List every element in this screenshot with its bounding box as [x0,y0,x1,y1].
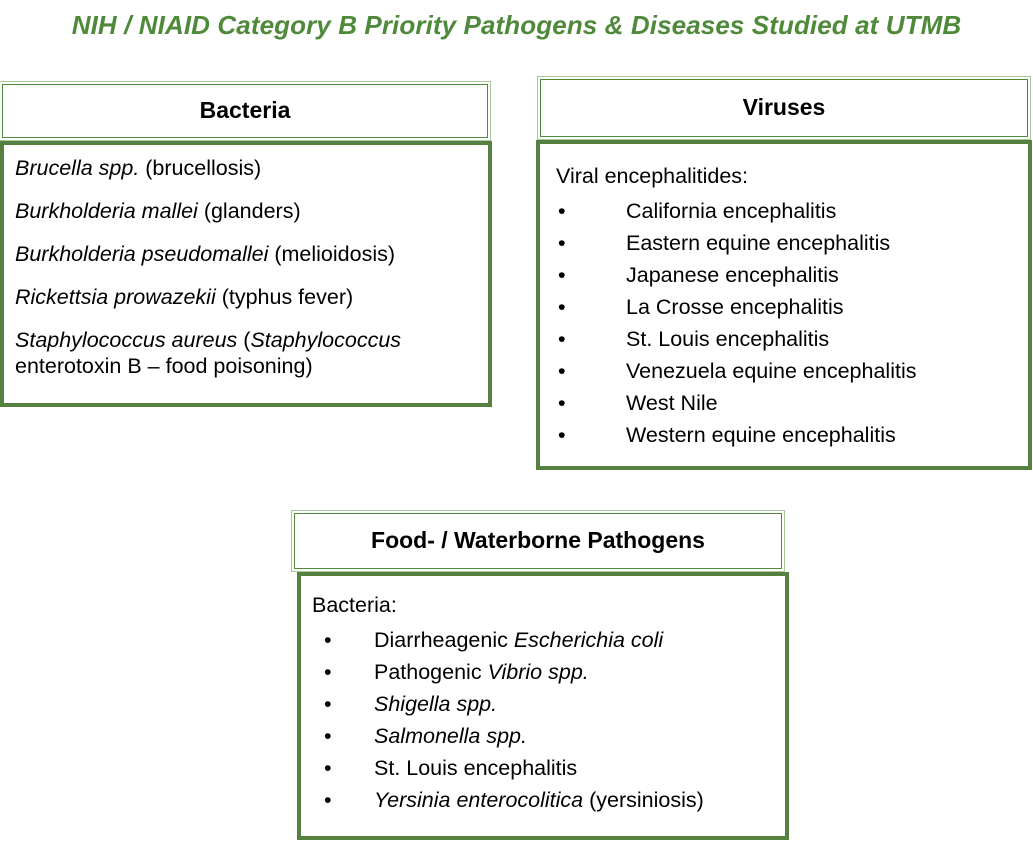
disease-note: enterotoxin B – food poisoning) [15,354,313,378]
virus-list-item: •Japanese encephalitis [556,259,1022,291]
food-pathogen-list-item-label: Diarrheagenic Escherichia coli [374,628,663,652]
pathogen-qualifier: Pathogenic [374,660,488,684]
panel-food-waterborne-header: Food- / Waterborne Pathogens [294,513,782,569]
virus-list-item-label: California encephalitis [626,199,836,223]
page-title: NIH / NIAID Category B Priority Pathogen… [0,10,1033,41]
panel-viruses-title: Viruses [743,95,826,120]
food-pathogen-list-item: •Yersinia enterocolitica (yersiniosis) [312,784,779,816]
bacteria-list-item: Brucella spp. (brucellosis) [15,155,482,181]
species-name: Burkholderia mallei [15,199,198,223]
virus-list-item: •Western equine encephalitis [556,419,1022,451]
pathogen-qualifier: St. Louis encephalitis [374,756,577,780]
bacteria-list: Brucella spp. (brucellosis)Burkholderia … [15,155,482,379]
panel-viruses-body: Viral encephalitides: •California enceph… [536,140,1032,470]
disease-note: (brucellosis) [139,156,261,180]
pathogen-qualifier: Diarrheagenic [374,628,514,652]
food-pathogen-list-item: •Salmonella spp. [312,720,779,752]
species-name: Brucella spp. [15,156,139,180]
bullet-icon: • [324,720,332,752]
virus-list-item: •La Crosse encephalitis [556,291,1022,323]
species-name: Salmonella spp. [374,724,527,748]
bullet-icon: • [558,323,566,355]
virus-list-item: •California encephalitis [556,195,1022,227]
bacteria-list-item: Rickettsia prowazekii (typhus fever) [15,284,482,310]
virus-list-item-label: West Nile [626,391,718,415]
bacteria-list-item: Burkholderia mallei (glanders) [15,198,482,224]
food-pathogen-list-item-label: Yersinia enterocolitica (yersiniosis) [374,788,704,812]
disease-note: ( [237,328,250,352]
disease-note: (melioidosis) [268,242,395,266]
viruses-bullet-list: •California encephalitis•Eastern equine … [556,195,1022,451]
bullet-icon: • [558,387,566,419]
species-name: Yersinia enterocolitica [374,788,583,812]
disease-note: (yersiniosis) [583,788,704,812]
species-name: Shigella spp. [374,692,497,716]
panel-food-waterborne-body: Bacteria: •Diarrheagenic Escherichia col… [297,572,789,840]
bullet-icon: • [324,688,332,720]
virus-list-item: •Venezuela equine encephalitis [556,355,1022,387]
food-pathogen-list-item-label: Salmonella spp. [374,724,527,748]
virus-list-item-label: Eastern equine encephalitis [626,231,890,255]
food-pathogen-list-item-label: Shigella spp. [374,692,497,716]
species-name: Escherichia coli [514,628,663,652]
bullet-icon: • [558,259,566,291]
virus-list-item-label: Venezuela equine encephalitis [626,359,916,383]
virus-list-item-label: St. Louis encephalitis [626,327,829,351]
virus-list-item-label: Japanese encephalitis [626,263,839,287]
bullet-icon: • [558,419,566,451]
species-name: Rickettsia prowazekii [15,285,216,309]
food-pathogen-list-item: •Diarrheagenic Escherichia coli [312,624,779,656]
food-bullet-list: •Diarrheagenic Escherichia coli•Pathogen… [312,624,779,816]
viruses-lead-label: Viral encephalitides: [556,163,1022,190]
bacteria-list-item: Burkholderia pseudomallei (melioidosis) [15,241,482,267]
bullet-icon: • [324,656,332,688]
species-name: Staphylococcus aureus [15,328,237,352]
virus-list-item: •West Nile [556,387,1022,419]
food-pathogen-list-item-label: Pathogenic Vibrio spp. [374,660,589,684]
bullet-icon: • [558,291,566,323]
food-pathogen-list-item: •Pathogenic Vibrio spp. [312,656,779,688]
disease-note: (typhus fever) [216,285,353,309]
panel-bacteria-title: Bacteria [200,98,291,123]
food-pathogen-list-item: •Shigella spp. [312,688,779,720]
panel-bacteria-body: Brucella spp. (brucellosis)Burkholderia … [0,141,492,407]
food-pathogen-list-item: •St. Louis encephalitis [312,752,779,784]
panel-bacteria-header: Bacteria [2,84,488,138]
disease-note: (glanders) [198,199,301,223]
bullet-icon: • [558,355,566,387]
virus-list-item: •St. Louis encephalitis [556,323,1022,355]
virus-list-item: •Eastern equine encephalitis [556,227,1022,259]
bullet-icon: • [324,784,332,816]
panel-viruses-header: Viruses [540,79,1028,137]
species-name: Vibrio spp. [488,660,589,684]
bullet-icon: • [558,195,566,227]
food-lead-label: Bacteria: [312,592,779,619]
bullet-icon: • [324,752,332,784]
panel-food-waterborne-title: Food- / Waterborne Pathogens [371,528,705,553]
species-name: Staphylococcus [250,328,401,352]
food-pathogen-list-item-label: St. Louis encephalitis [374,756,577,780]
bacteria-list-item: Staphylococcus aureus (Staphylococcus en… [15,327,482,379]
species-name: Burkholderia pseudomallei [15,242,268,266]
virus-list-item-label: Western equine encephalitis [626,423,896,447]
bullet-icon: • [324,624,332,656]
bullet-icon: • [558,227,566,259]
virus-list-item-label: La Crosse encephalitis [626,295,844,319]
